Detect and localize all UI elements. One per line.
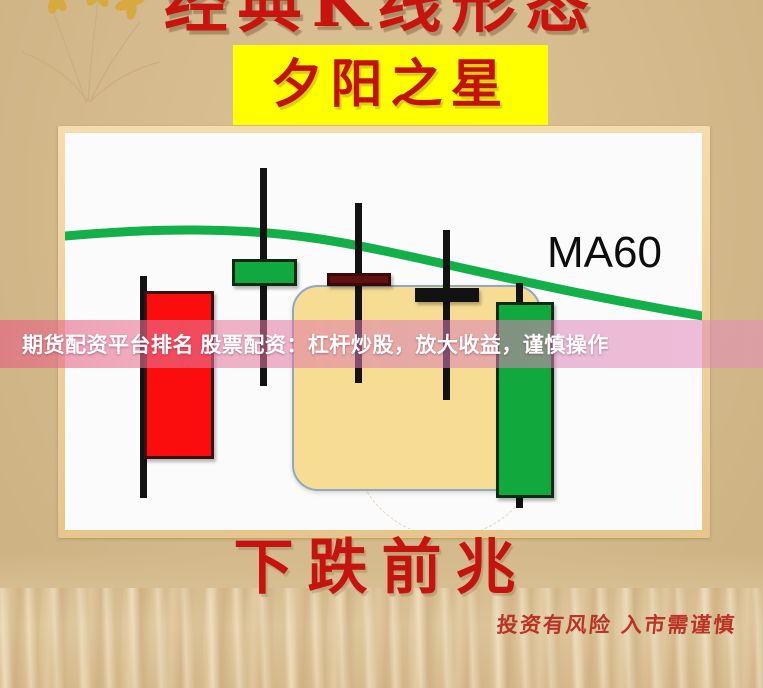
subtitle-banner: 夕阳之星 (233, 45, 548, 125)
candle-4-wick (443, 230, 450, 400)
poster-stage: 经典K线形态 夕阳之星 财经说 MA60 (0, 0, 763, 688)
ma60-label: MA60 (547, 231, 662, 275)
candle-4-body (415, 288, 479, 302)
overlay-banner-text: 期货配资平台排名 股票配资：杠杆炒股，放大收益，谨慎操作 (22, 329, 609, 359)
candle-2-body (232, 259, 297, 286)
overlay-banner[interactable]: 期货配资平台排名 股票配资：杠杆炒股，放大收益，谨慎操作 (0, 320, 763, 368)
subtitle-text: 夕阳之星 (270, 59, 510, 111)
candle-3-body (327, 273, 391, 286)
candle-1-body (144, 291, 214, 459)
risk-disclaimer: 投资有风险 入市需谨慎 (495, 609, 737, 639)
poster-bottom-title: 下跌前兆 (0, 530, 763, 606)
poster-top-title: 经典K线形态 (0, 0, 763, 40)
